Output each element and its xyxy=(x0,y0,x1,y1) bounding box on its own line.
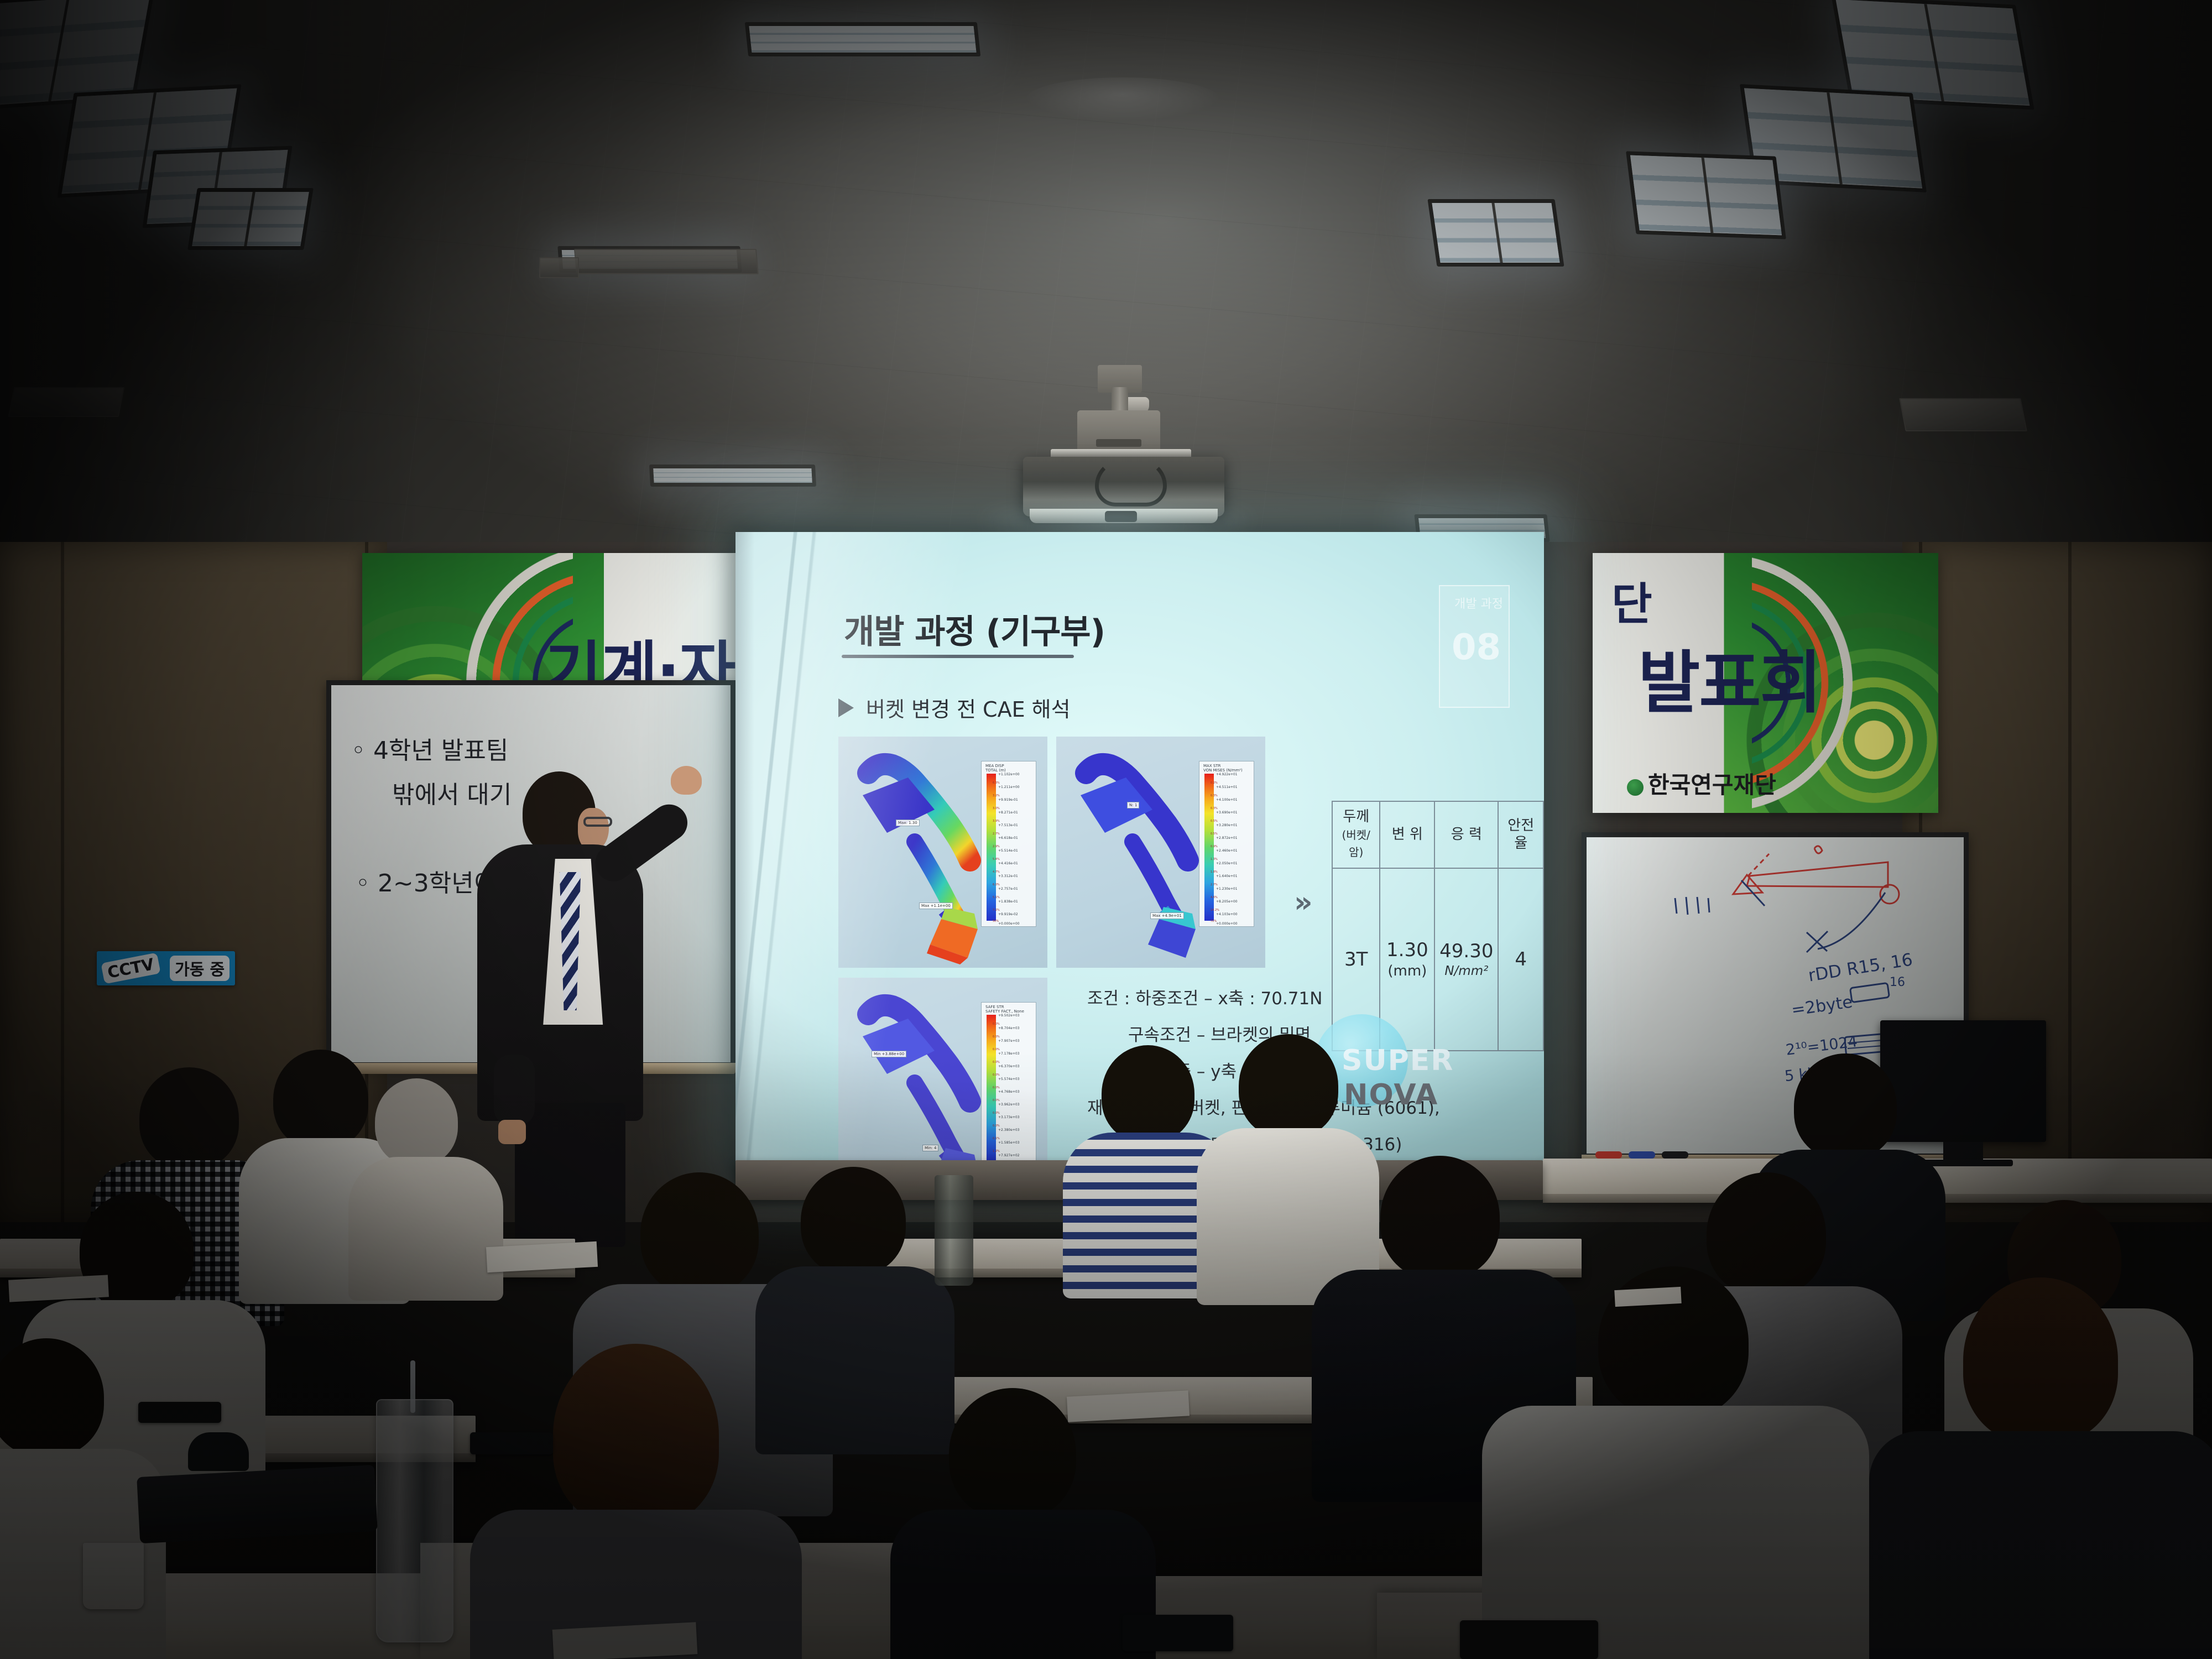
tumbler-cup[interactable] xyxy=(376,1399,453,1642)
cctv-status-label: 가동 중 xyxy=(170,956,229,981)
drinking-straw xyxy=(410,1360,415,1413)
cctv-notice-sign: CCTV 가동 중 xyxy=(97,951,235,985)
papers-on-desk xyxy=(486,1241,598,1272)
marker-black[interactable] xyxy=(1662,1151,1688,1159)
lecture-hall-scene: 기계·자 주최 : 대구대 단 발표회 한국연구재단 ◦ 4학년 발표팀 밖에서… xyxy=(0,0,2212,1659)
bag-handle xyxy=(188,1432,249,1471)
ceiling-light-panel xyxy=(649,465,816,487)
projector-cable xyxy=(1095,459,1167,507)
banner-right-org: 한국연구재단 xyxy=(1626,766,1776,800)
banner-right-title-fragment: 단 xyxy=(1611,568,1651,633)
whiteboard-right-note-3: 16 xyxy=(1890,975,1905,989)
marker-red[interactable] xyxy=(1595,1151,1622,1159)
org-emblem-icon xyxy=(1626,778,1645,797)
smartphone-on-desk[interactable] xyxy=(1123,1615,1233,1651)
glasses-icon xyxy=(583,817,612,827)
audience-member-nearest-right xyxy=(1891,1277,2201,1659)
whiteboard-left-line-1: ◦ 4학년 발표팀 xyxy=(351,731,508,766)
ceiling-shadow-left xyxy=(0,0,420,559)
ceiling-sprinkler-plate xyxy=(539,257,579,278)
ceiling-shadow-right xyxy=(1825,0,2212,559)
audience-member-nearest-center xyxy=(907,1388,1139,1659)
ceiling-light-panel xyxy=(1626,151,1786,239)
banner-right-title: 발표회 xyxy=(1638,628,1821,726)
audience-member-nearest-long-hair xyxy=(487,1344,785,1659)
ceiling xyxy=(0,0,2212,559)
audience-member-nearest-white-tee xyxy=(1504,1266,1847,1659)
ceiling-vent xyxy=(574,249,759,274)
smartphone-on-desk[interactable] xyxy=(138,1402,221,1423)
ceiling-light-panel xyxy=(745,22,981,56)
ceiling-circular-fixture xyxy=(1026,77,1219,121)
presenter-hand xyxy=(671,766,702,795)
laptop-bag xyxy=(137,1465,378,1543)
crumpled-paper xyxy=(1614,1287,1681,1307)
marker-blue[interactable] xyxy=(1629,1151,1655,1159)
smartphone-on-desk[interactable] xyxy=(470,1432,553,1454)
banner-right: 단 발표회 한국연구재단 xyxy=(1593,553,1938,813)
paper-cup[interactable] xyxy=(83,1543,144,1609)
tablet-on-desk[interactable] xyxy=(1460,1620,1598,1659)
audience-member-grey-hair xyxy=(348,1078,503,1288)
cctv-label: CCTV xyxy=(101,953,160,984)
ceiling-light-panel xyxy=(1427,199,1564,267)
water-bottle[interactable] xyxy=(935,1175,973,1286)
